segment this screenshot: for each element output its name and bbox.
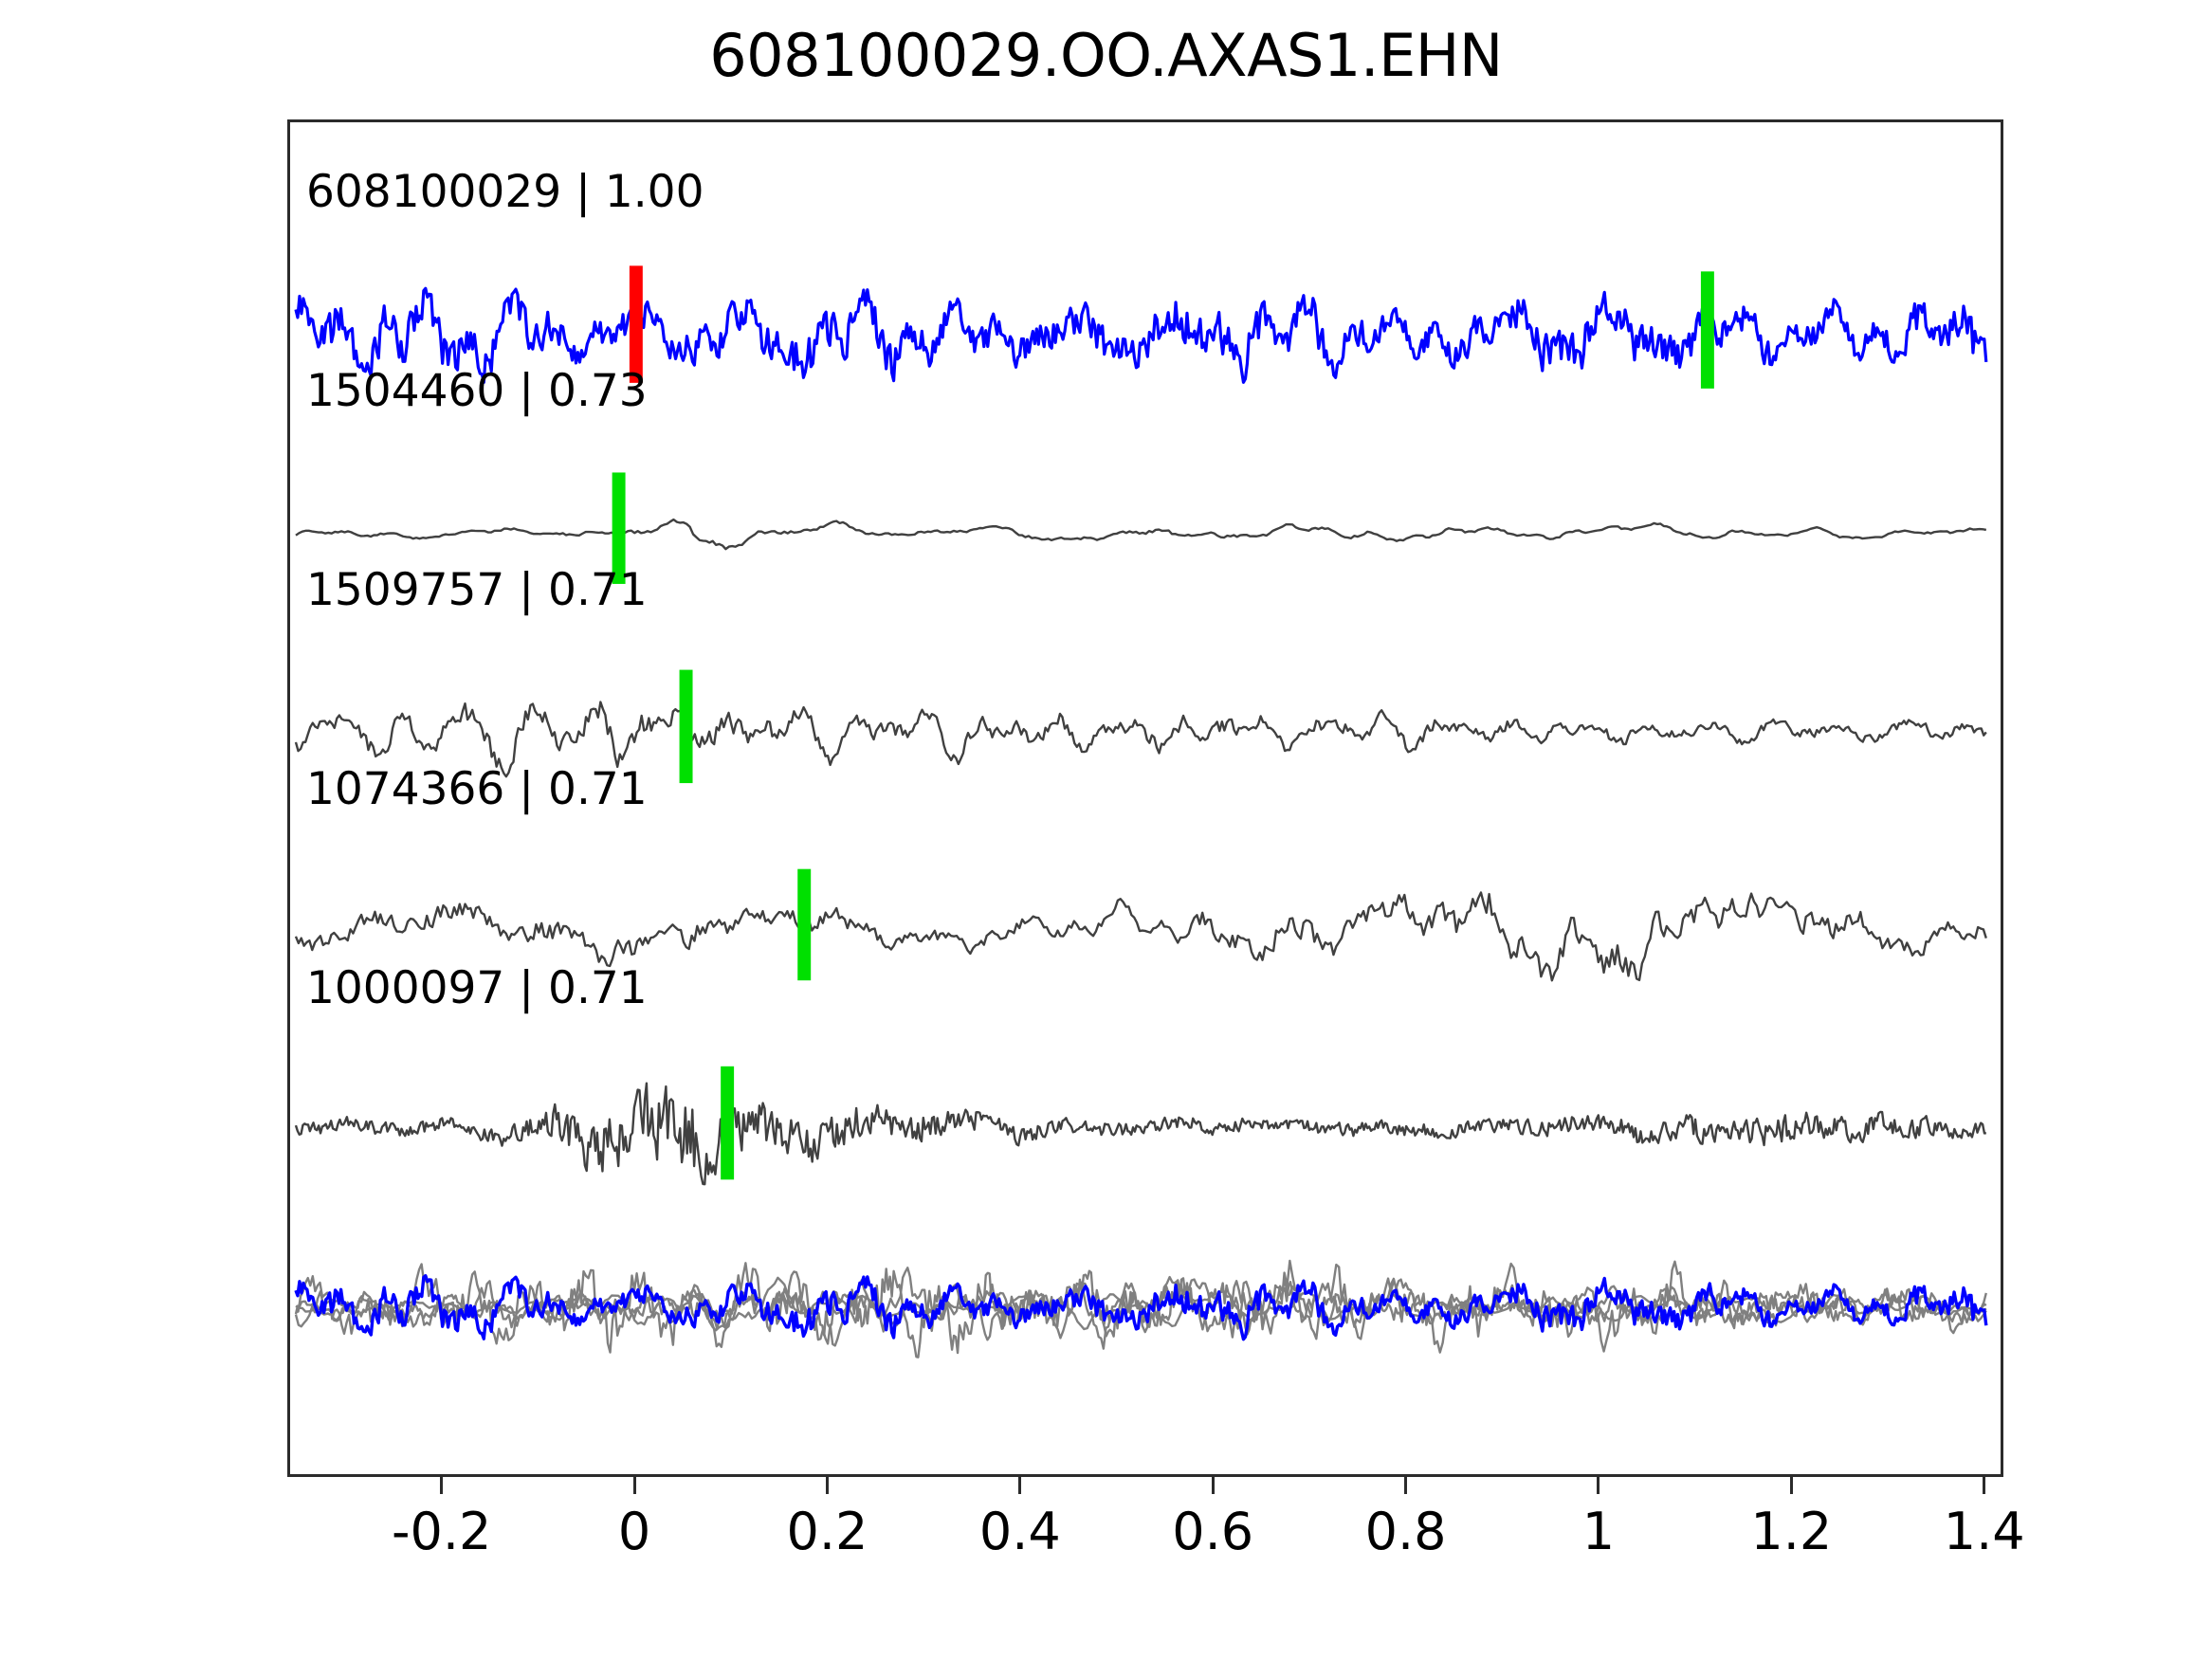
x-tick-mark	[440, 1477, 443, 1494]
x-tick-mark	[633, 1477, 636, 1494]
trace-label-1074366: 1074366 | 0.71	[306, 763, 648, 815]
x-tick-mark	[1404, 1477, 1407, 1494]
x-tick-label: 0.6	[1172, 1502, 1253, 1561]
x-tick-mark	[1790, 1477, 1793, 1494]
x-tick-label: 0.4	[979, 1502, 1061, 1561]
trace-label-1504460: 1504460 | 0.73	[306, 365, 648, 417]
x-tick-mark	[1212, 1477, 1215, 1494]
x-tick-label: 1.4	[1944, 1502, 2025, 1561]
pick-marker	[797, 869, 811, 981]
figure-canvas: 608100029.OO.AXAS1.EHN 608100029 | 1.00 …	[0, 0, 2212, 1659]
x-tick-label: 0.8	[1365, 1502, 1447, 1561]
pick-marker	[1701, 271, 1714, 388]
trace-label-1000097: 1000097 | 0.71	[306, 962, 648, 1014]
x-tick-label: 1	[1582, 1502, 1615, 1561]
trace-label-608100029: 608100029 | 1.00	[306, 166, 704, 218]
page-title: 608100029.OO.AXAS1.EHN	[0, 21, 2212, 90]
x-tick-label: -0.2	[392, 1502, 491, 1561]
x-tick-mark	[1018, 1477, 1021, 1494]
pick-marker	[721, 1066, 734, 1179]
x-tick-label: 0	[618, 1502, 650, 1561]
waveform-trace-1504460	[296, 520, 1986, 549]
plot-axes: 608100029 | 1.00 1504460 | 0.73 1509757 …	[287, 119, 2003, 1477]
x-tick-mark	[826, 1477, 829, 1494]
x-tick-mark	[1597, 1477, 1600, 1494]
x-tick-mark	[1983, 1477, 1985, 1494]
x-tick-label: 0.2	[786, 1502, 868, 1561]
pick-marker	[680, 670, 693, 783]
x-tick-label: 1.2	[1750, 1502, 1832, 1561]
waveform-trace-1000097	[296, 1084, 1986, 1185]
trace-label-1509757: 1509757 | 0.71	[306, 564, 648, 616]
